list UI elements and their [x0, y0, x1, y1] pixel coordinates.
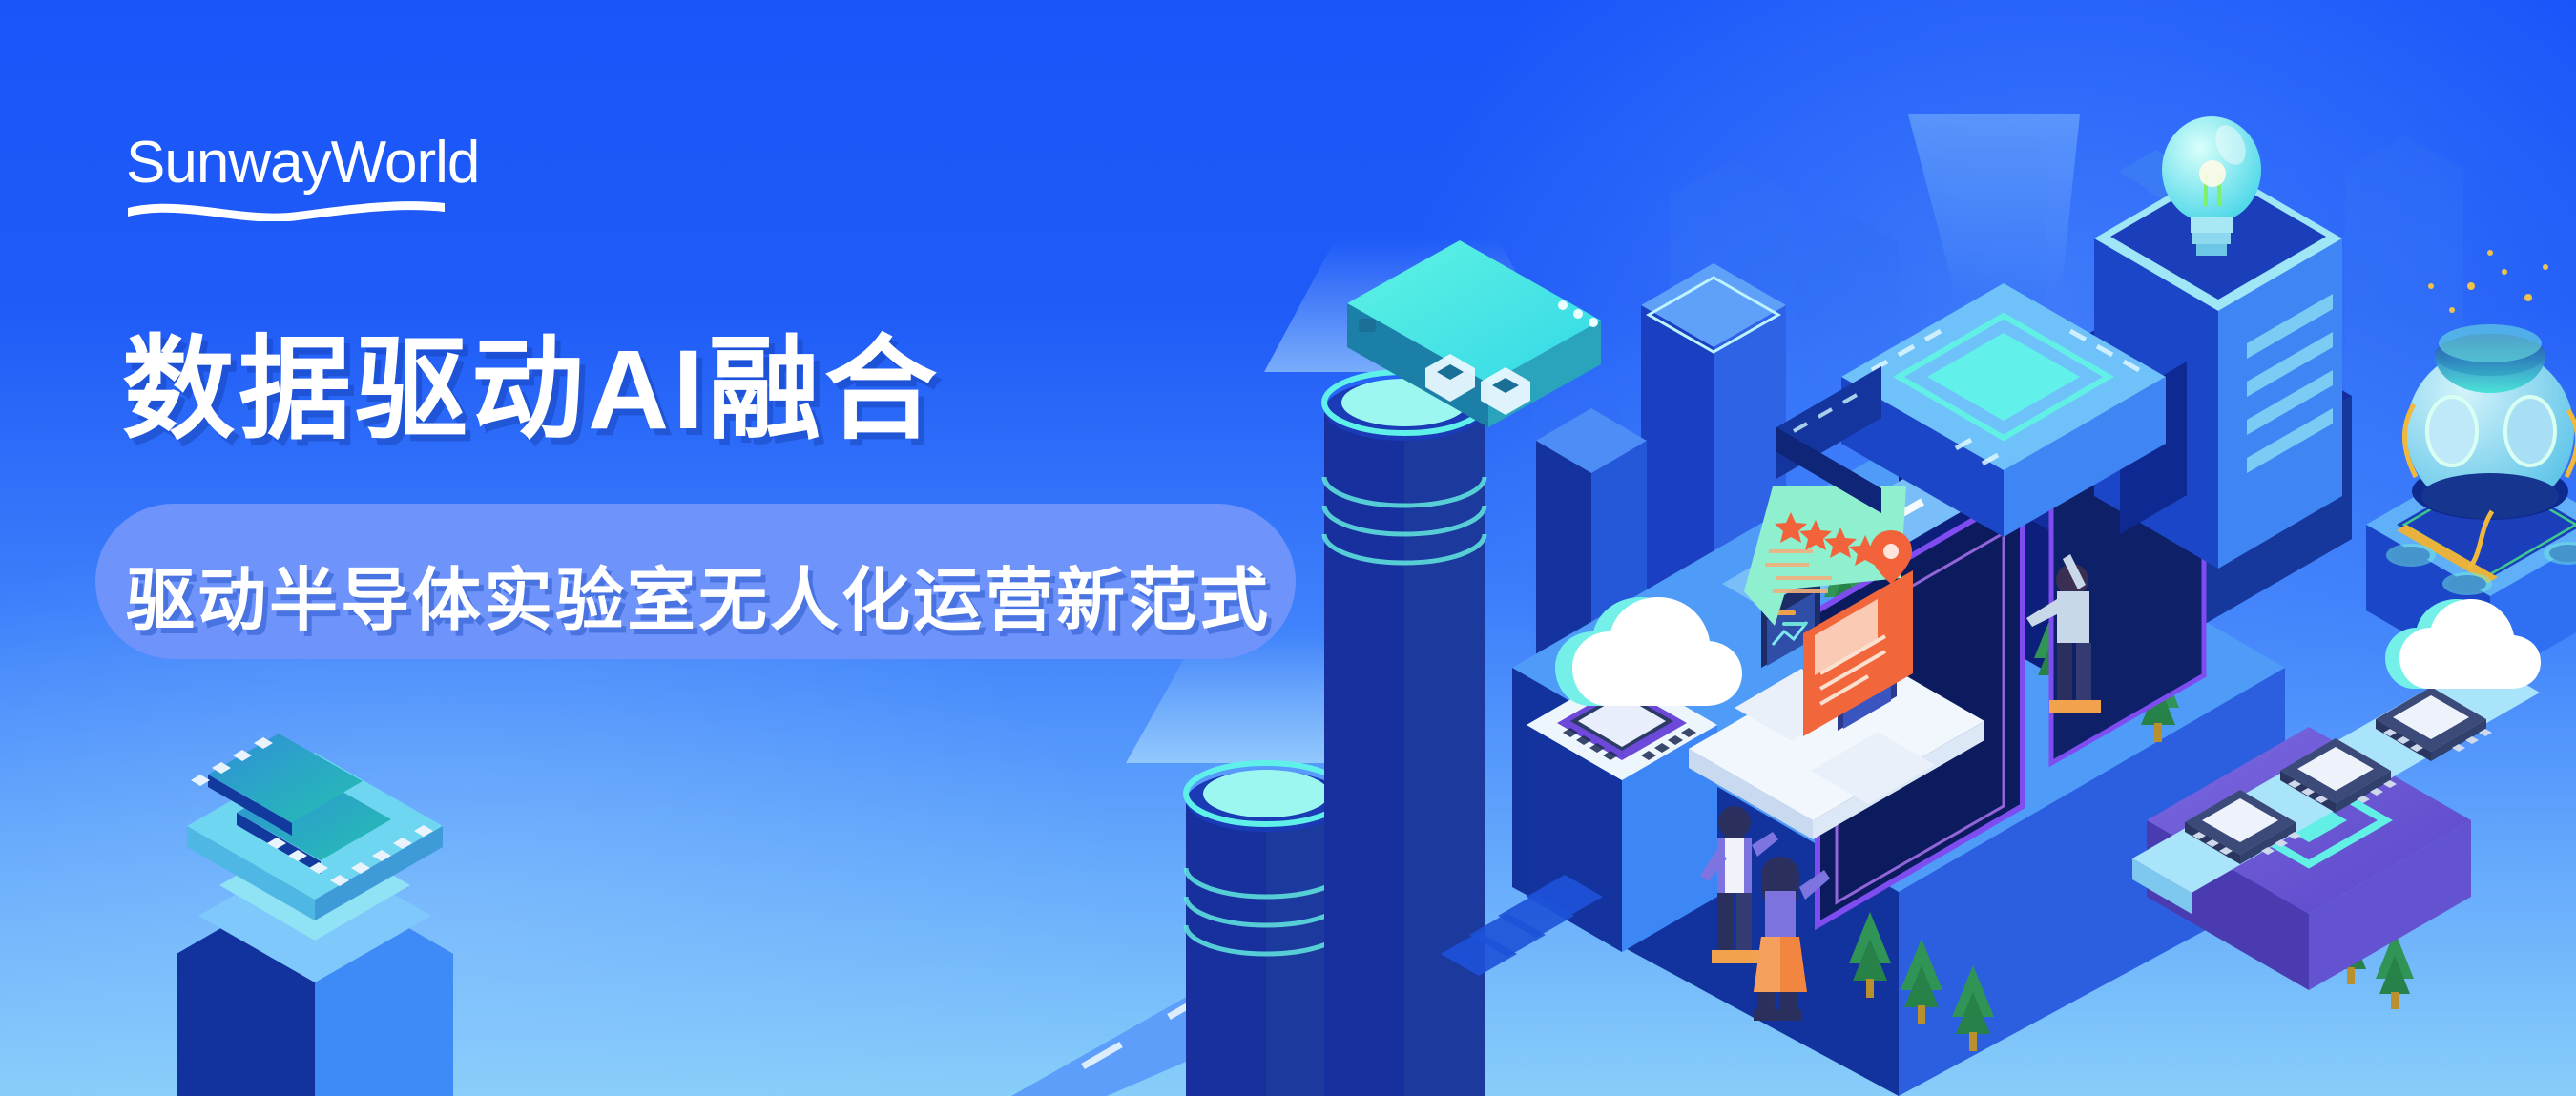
- wave-underline-icon: [126, 196, 447, 221]
- page-title: 数据驱动AI融合: [122, 332, 941, 449]
- brand-logo-text: SunwayWorld: [126, 134, 508, 193]
- brand-logo[interactable]: SunwayWorld: [126, 134, 508, 221]
- chip-on-pedestal-left: [177, 734, 453, 1096]
- promo-banner: SunwayWorld 数据驱动AI融合 驱动半导体实验室无人化运营新范式: [0, 0, 2576, 1096]
- lightbulb-tower: [2094, 116, 2342, 569]
- subtitle-text: 驱动半导体实验室无人化运营新范式: [126, 544, 1271, 644]
